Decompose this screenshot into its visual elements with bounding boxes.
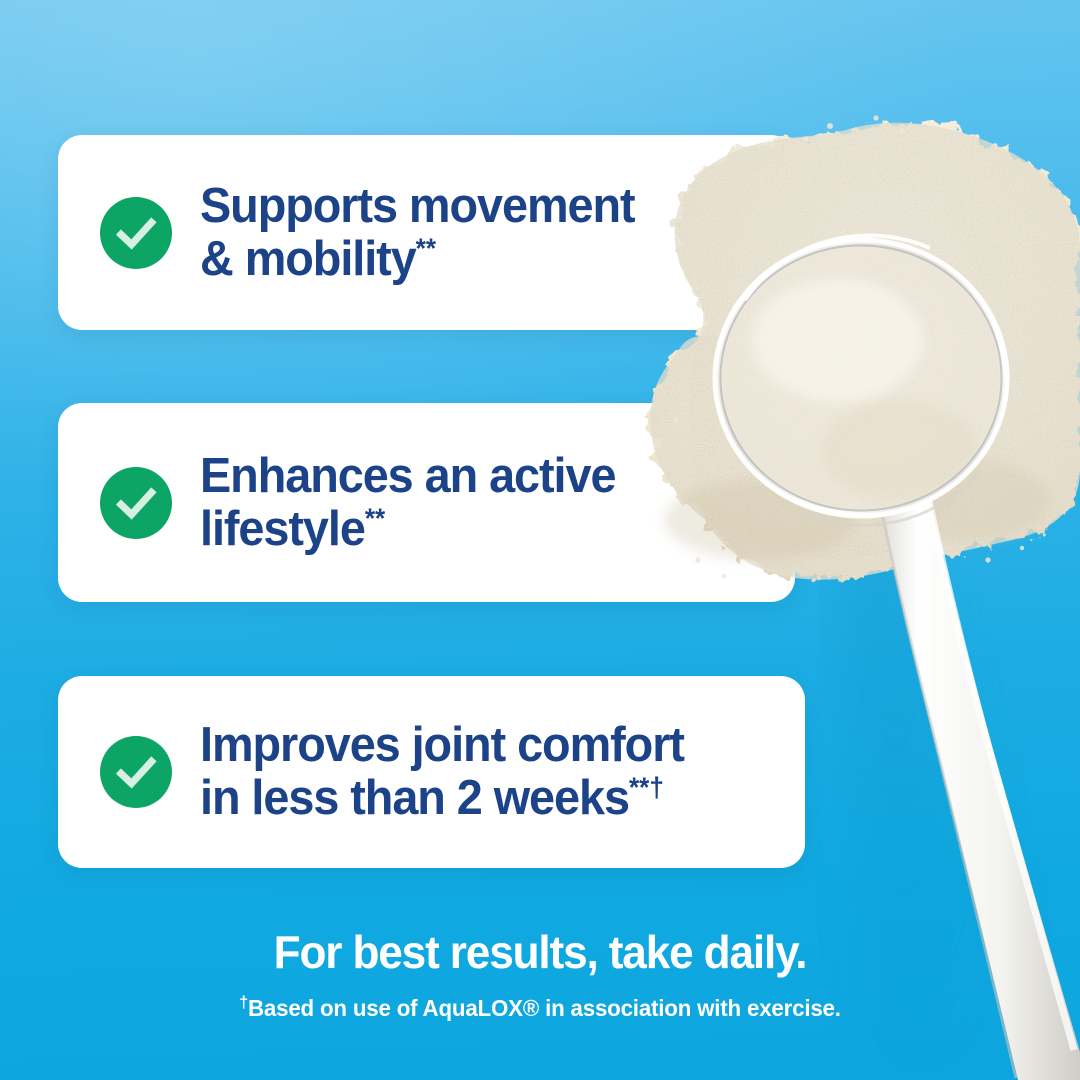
disclaimer-text: Based on use of AquaLOX® in association … — [248, 995, 841, 1021]
benefit-card-3: Improves joint comfort in less than 2 we… — [58, 676, 805, 868]
protein-powder-artwork — [0, 0, 1080, 1080]
promo-graphic: Supports movement & mobility** Enhances … — [0, 0, 1080, 1080]
benefit-footnote-marker-3: **† — [629, 772, 664, 803]
benefit-label-3: Improves joint comfort in less than 2 we… — [200, 719, 684, 825]
footer-disclaimer: †Based on use of AquaLOX® in association… — [16, 993, 1064, 1023]
footer-block: For best results, take daily. †Based on … — [0, 925, 1080, 1023]
benefit-text-3: Improves joint comfort in less than 2 we… — [200, 718, 684, 825]
check-circle-icon — [100, 736, 172, 808]
disclaimer-marker: † — [239, 992, 248, 1011]
footer-headline: For best results, take daily. — [22, 925, 1059, 979]
